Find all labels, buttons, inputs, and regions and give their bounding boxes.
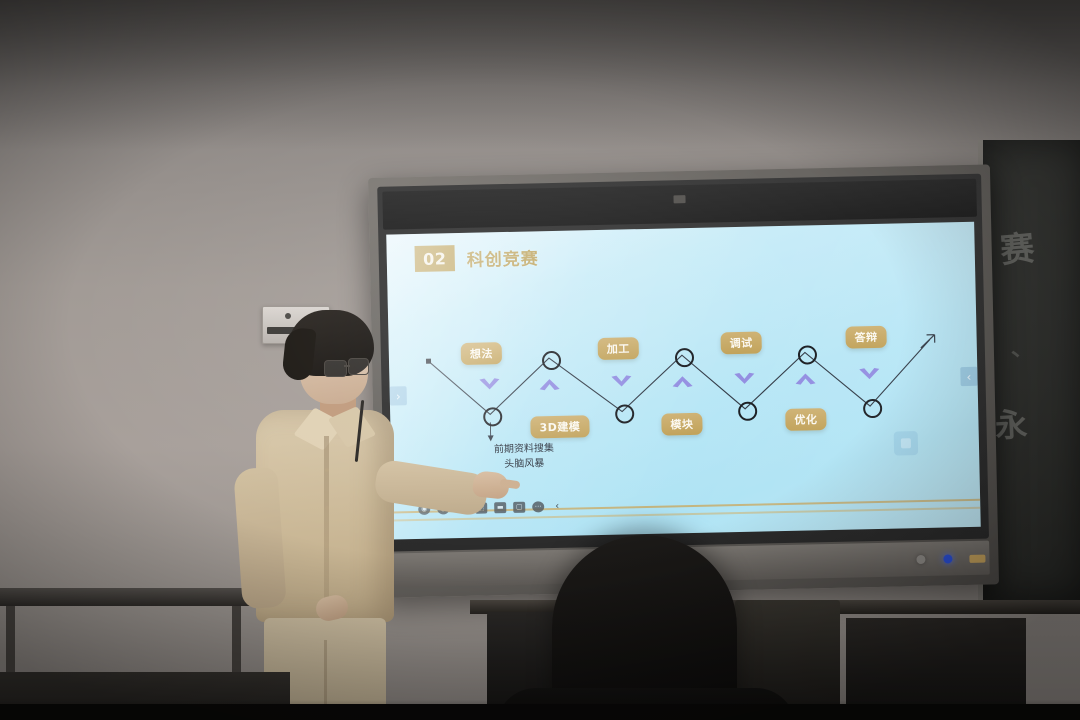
classroom-scene: 赛 、 永 02 科创竞赛	[0, 0, 1080, 720]
scene-vignette	[0, 0, 1080, 720]
